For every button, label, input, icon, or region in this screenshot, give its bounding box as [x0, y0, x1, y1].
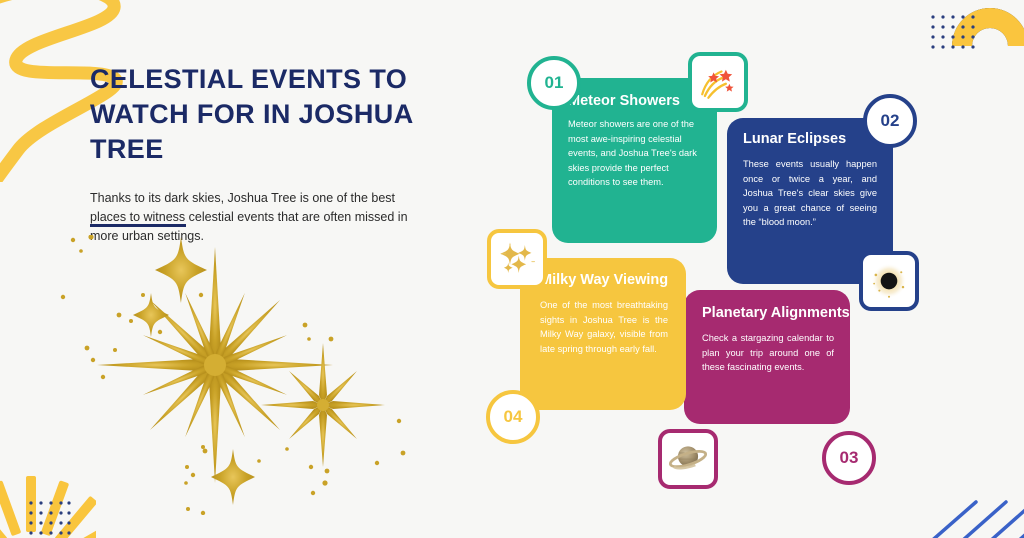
intro-block: CELESTIAL EVENTS TO WATCH FOR IN JOSHUA … — [90, 62, 490, 246]
saturn-planet-icon — [658, 429, 718, 489]
divider — [90, 224, 186, 227]
card-title: Planetary Alignments — [684, 290, 850, 323]
page-title: CELESTIAL EVENTS TO WATCH FOR IN JOSHUA … — [90, 62, 490, 167]
card-body: These events usually happen once or twic… — [727, 148, 893, 230]
sparkles-icon — [487, 229, 547, 289]
blue-diagonal-lines-decoration — [920, 482, 1024, 538]
gold-glitter-stars-illustration — [55, 235, 415, 515]
badge-02: 02 — [863, 94, 917, 148]
card-planetary-alignments[interactable]: Planetary Alignments Check a stargazing … — [684, 290, 850, 424]
badge-01: 01 — [527, 56, 581, 110]
navy-dot-grid-decoration — [930, 14, 976, 52]
solar-eclipse-icon — [859, 251, 919, 311]
card-body: Meteor showers are one of the most awe-i… — [552, 110, 717, 190]
badge-04: 04 — [486, 390, 540, 444]
badge-03: 03 — [822, 431, 876, 485]
card-body: Check a stargazing calendar to plan your… — [684, 323, 850, 375]
yellow-arch-decoration — [952, 0, 1024, 46]
card-body: One of the most breathtaking sights in J… — [520, 290, 686, 356]
shooting-stars-icon — [688, 52, 748, 112]
slide-canvas: CELESTIAL EVENTS TO WATCH FOR IN JOSHUA … — [0, 0, 1024, 538]
